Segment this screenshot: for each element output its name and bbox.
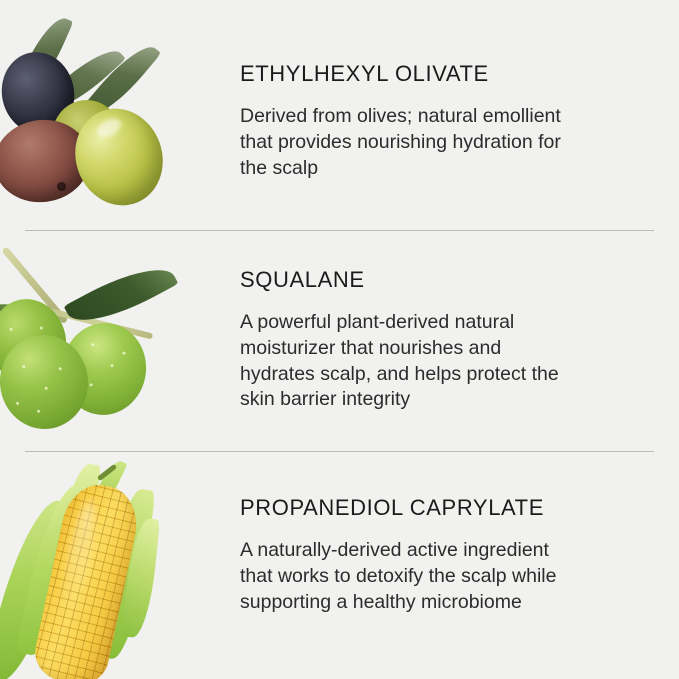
corn-cob-with-husk-image	[0, 448, 232, 679]
corn-illustration	[0, 448, 232, 679]
ingredient-row: ETHYLHEXYL OLIVATE Derived from olives; …	[0, 0, 679, 226]
olive-dimple-shape	[57, 182, 66, 191]
ingredient-description: A powerful plant-derived natural moistur…	[240, 310, 570, 413]
ingredient-benefits-panel: ETHYLHEXYL OLIVATE Derived from olives; …	[0, 0, 679, 679]
ingredient-row: PROPANEDIOL CAPRYLATE A naturally-derive…	[0, 448, 679, 679]
mixed-olives-with-leaves-image	[0, 0, 232, 226]
ingredient-row: SQUALANE A powerful plant-derived natura…	[0, 227, 679, 447]
ingredient-text-block: PROPANEDIOL CAPRYLATE A naturally-derive…	[232, 448, 679, 615]
olive-branch-illustration	[0, 227, 232, 447]
green-olives-on-branch-image	[0, 227, 232, 447]
ingredient-text-block: ETHYLHEXYL OLIVATE Derived from olives; …	[232, 0, 679, 181]
ingredient-description: A naturally-derived active ingredient th…	[240, 538, 570, 615]
ingredient-description: Derived from olives; natural emollient t…	[240, 104, 570, 181]
olives-illustration	[0, 0, 232, 226]
ingredient-title: ETHYLHEXYL OLIVATE	[240, 62, 659, 86]
ingredient-text-block: SQUALANE A powerful plant-derived natura…	[232, 227, 679, 413]
ingredient-title: PROPANEDIOL CAPRYLATE	[240, 496, 659, 520]
ingredient-title: SQUALANE	[240, 268, 659, 292]
olive-leaf-icon	[64, 254, 179, 337]
